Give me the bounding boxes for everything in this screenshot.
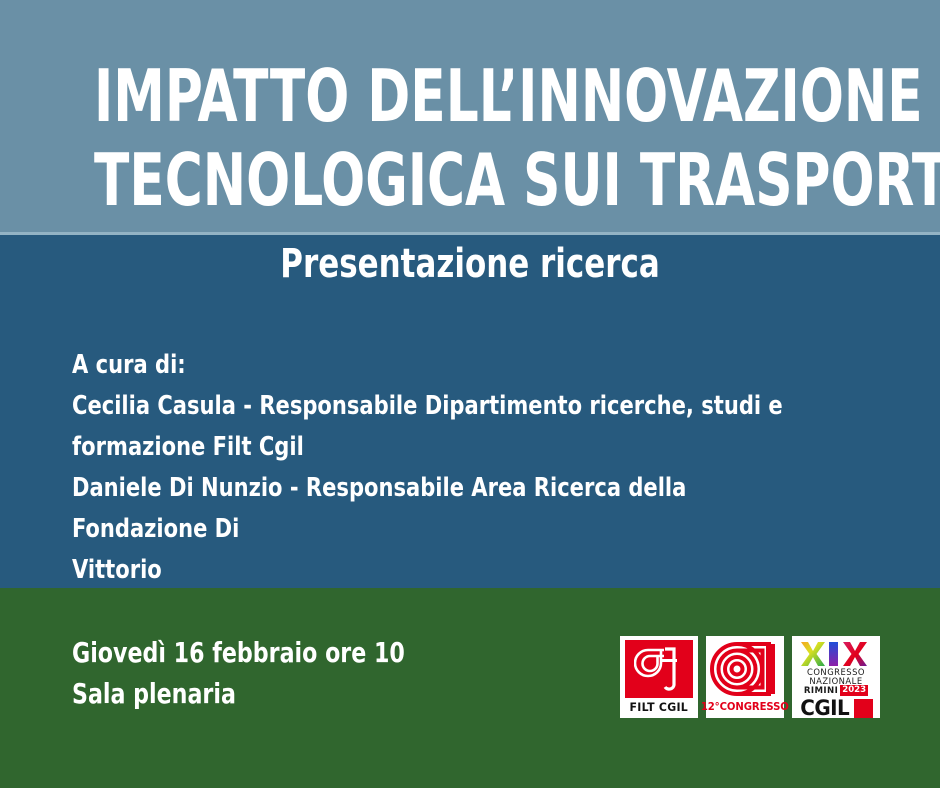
xix-roman-numeral-icon (799, 641, 873, 667)
filt-cgil-wordmark: FILT CGIL (630, 701, 689, 714)
event-info-block: Giovedì 16 febbraio ore 10 Sala plenaria (72, 632, 450, 714)
credits-block: A cura di: Cecilia Casula - Responsabile… (72, 345, 882, 591)
congresso-nazionale-caption: CONGRESSO NAZIONALE (807, 668, 865, 685)
event-date-time: Giovedì 16 febbraio ore 10 (72, 632, 405, 673)
title-line-2: TECNOLOGICA SUI TRASPORTI (94, 138, 846, 222)
credits-line-3: Daniele Di Nunzio - Responsabile Area Ri… (72, 468, 801, 550)
dodicesimo-congresso-logo: 12°CONGRESSO (706, 636, 784, 718)
credits-line-4: Vittorio (72, 550, 801, 591)
poster-title: IMPATTO DELL’INNOVAZIONE TECNOLOGICA SUI… (0, 54, 940, 222)
event-venue: Sala plenaria (72, 673, 405, 714)
credits-heading: A cura di: (72, 345, 801, 386)
rimini-year-row: RIMINI 2023 (804, 685, 868, 696)
poster-canvas: IMPATTO DELL’INNOVAZIONE TECNOLOGICA SUI… (0, 0, 940, 788)
cgil-red-square-icon (854, 699, 873, 718)
congresso-wordmark: 12°CONGRESSO (701, 701, 789, 713)
cgil-caption-line-2: NAZIONALE (807, 677, 865, 686)
cgil-wordmark-row: CGIL (799, 698, 873, 719)
filt-cgil-logo: FILT CGIL (620, 636, 698, 718)
filt-cgil-monogram-icon (634, 645, 684, 693)
congresso-spiral-icon (709, 640, 781, 698)
credits-line-2: formazione Filt Cgil (72, 427, 801, 468)
xix-congresso-cgil-logo: CONGRESSO NAZIONALE RIMINI 2023 CGIL (792, 636, 880, 718)
cgil-wordmark: CGIL (800, 698, 849, 719)
filt-cgil-red-square (625, 640, 693, 698)
credits-line-1: Cecilia Casula - Responsabile Dipartimen… (72, 386, 801, 427)
rimini-label: RIMINI (804, 686, 838, 696)
year-badge: 2023 (840, 685, 868, 696)
title-line-1: IMPATTO DELL’INNOVAZIONE (94, 54, 846, 138)
poster-subtitle: Presentazione ricerca (66, 240, 874, 288)
logo-row: FILT CGIL 12°CONGRESSO (620, 636, 880, 718)
